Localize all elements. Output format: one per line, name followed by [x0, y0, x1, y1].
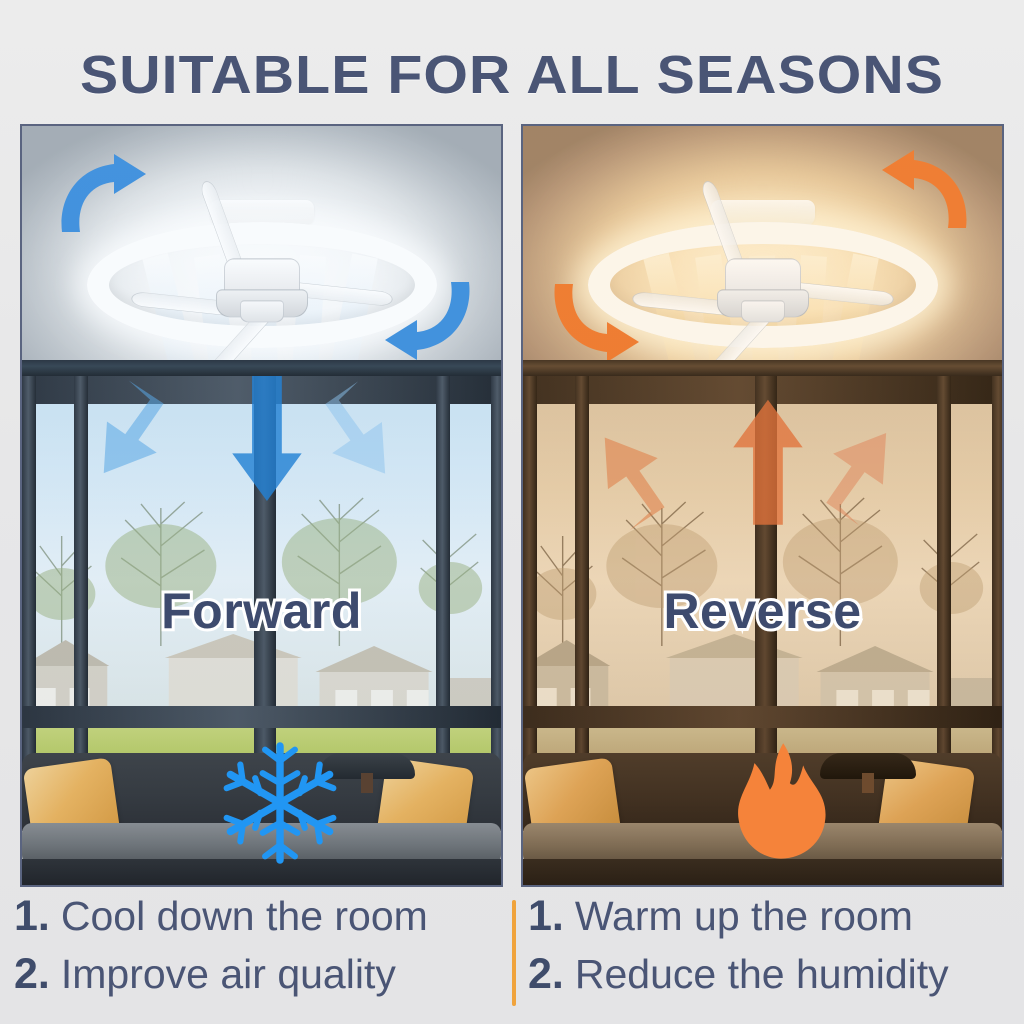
airflow-arrow-center: [232, 376, 301, 501]
captions-divider: [512, 900, 516, 1006]
caption-row: 1. Warm up the room: [528, 892, 1014, 950]
caption-row: 1. Cool down the room: [14, 892, 500, 950]
airflow-arrow-center: [733, 400, 802, 525]
airflow-arrow-right: [323, 379, 389, 481]
caption-text: Cool down the room: [61, 893, 428, 940]
caption-number: 2.: [14, 950, 50, 999]
caption-row: 2. Reduce the humidity: [528, 950, 1014, 1008]
curved-arrow-top-left-icon: [56, 154, 148, 238]
scene-label-reverse: Reverse: [523, 582, 1002, 640]
ceiling-scene-forward: [22, 126, 501, 376]
curved-arrow-top-right-icon: [880, 150, 972, 234]
ceiling-scene-reverse: [523, 126, 1002, 376]
airflow-arrow-left: [100, 378, 166, 480]
curved-arrow-bottom-left-icon: [549, 278, 641, 362]
caption-text: Reduce the humidity: [575, 951, 949, 998]
room-scene-reverse: Reverse: [523, 376, 1002, 885]
caption-number: 2.: [528, 950, 564, 999]
panel-forward: Forward: [20, 124, 503, 887]
room-scene-forward: Forward: [22, 376, 501, 885]
airflow-arrow-left: [601, 431, 667, 533]
caption-row: 2. Improve air quality: [14, 950, 500, 1008]
panel-reverse: Reverse: [521, 124, 1004, 887]
infographic-page: SUITABLE FOR ALL SEASONS: [0, 0, 1024, 1024]
fan-motor-hub: [725, 258, 801, 316]
ceiling-floor-divider: [523, 360, 1002, 376]
snowflake-icon: [218, 741, 342, 865]
captions-reverse: 1. Warm up the room 2. Reduce the humidi…: [528, 892, 1014, 1024]
curved-arrow-bottom-right-icon: [383, 276, 475, 360]
caption-number: 1.: [14, 892, 50, 941]
flame-icon: [725, 741, 837, 863]
fan-motor-hub: [224, 258, 300, 316]
caption-text: Improve air quality: [61, 951, 396, 998]
captions-section: 1. Cool down the room 2. Improve air qua…: [0, 892, 1024, 1024]
ceiling-floor-divider: [22, 360, 501, 376]
caption-text: Warm up the room: [575, 893, 913, 940]
airflow-arrow-right: [824, 426, 890, 528]
scene-label-forward: Forward: [22, 582, 501, 640]
captions-forward: 1. Cool down the room 2. Improve air qua…: [14, 892, 500, 1024]
caption-number: 1.: [528, 892, 564, 941]
page-title: SUITABLE FOR ALL SEASONS: [0, 44, 1024, 106]
